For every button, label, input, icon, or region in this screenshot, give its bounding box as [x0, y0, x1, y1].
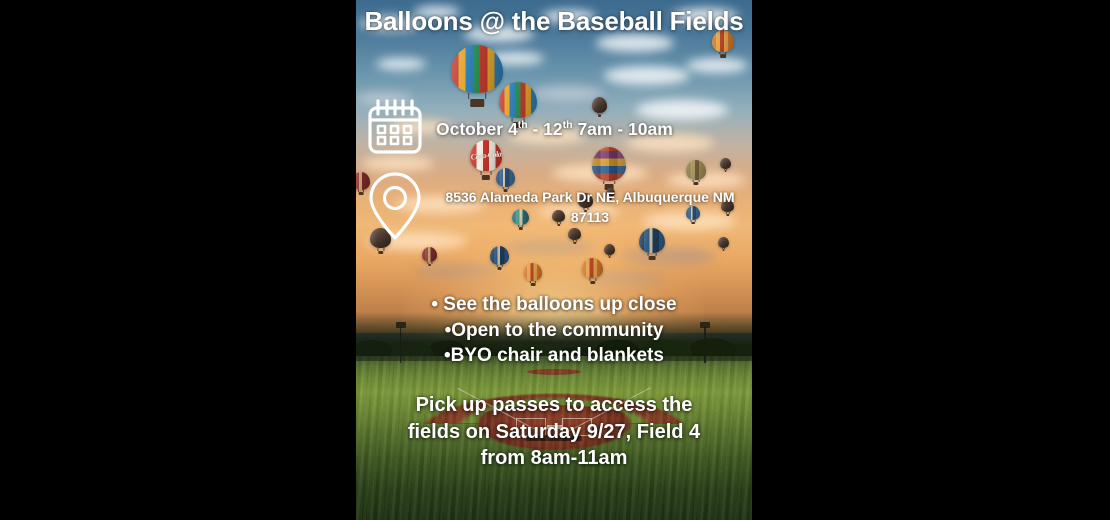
list-item: •BYO chair and blankets — [356, 343, 752, 369]
date-separator: - 12 — [528, 119, 563, 139]
calendar-icon — [364, 96, 426, 158]
event-highlights-list: • See the balloons up close •Open to the… — [356, 292, 752, 369]
sky-background — [356, 0, 752, 333]
pitchers-mound — [526, 369, 581, 375]
location-pin-icon — [364, 172, 426, 242]
pass-pickup-line-2: fields on Saturday 9/27, Field 4 — [356, 419, 752, 446]
date-end-suffix: th — [563, 119, 573, 131]
event-address-text: 8536 Alameda Park Dr NE, Albuquerque NM … — [434, 187, 746, 227]
pass-pickup-note: Pick up passes to access the fields on S… — [356, 392, 752, 472]
date-start: October 4 — [436, 119, 518, 139]
list-item: •Open to the community — [356, 318, 752, 344]
event-date-text: October 4th - 12th 7am - 10am — [436, 114, 673, 140]
event-address-row: 8536 Alameda Park Dr NE, Albuquerque NM … — [364, 172, 746, 242]
address-line-1: 8536 Alameda Park Dr NE, Albuquerque NM — [445, 189, 734, 205]
address-line-2: 87113 — [571, 209, 609, 225]
date-start-suffix: th — [518, 119, 528, 131]
pass-pickup-line-1: Pick up passes to access the — [356, 392, 752, 419]
pass-pickup-line-3: from 8am-11am — [356, 445, 752, 472]
event-poster: Coca-Cola Balloons @ the Baseball Fields — [356, 0, 752, 520]
page-title: Balloons @ the Baseball Fields — [356, 6, 752, 36]
event-time-range: 7am - 10am — [573, 119, 673, 139]
list-item: • See the balloons up close — [356, 292, 752, 318]
event-date-row: October 4th - 12th 7am - 10am — [364, 96, 746, 158]
screenshot-stage: Coca-Cola Balloons @ the Baseball Fields — [0, 0, 1110, 520]
